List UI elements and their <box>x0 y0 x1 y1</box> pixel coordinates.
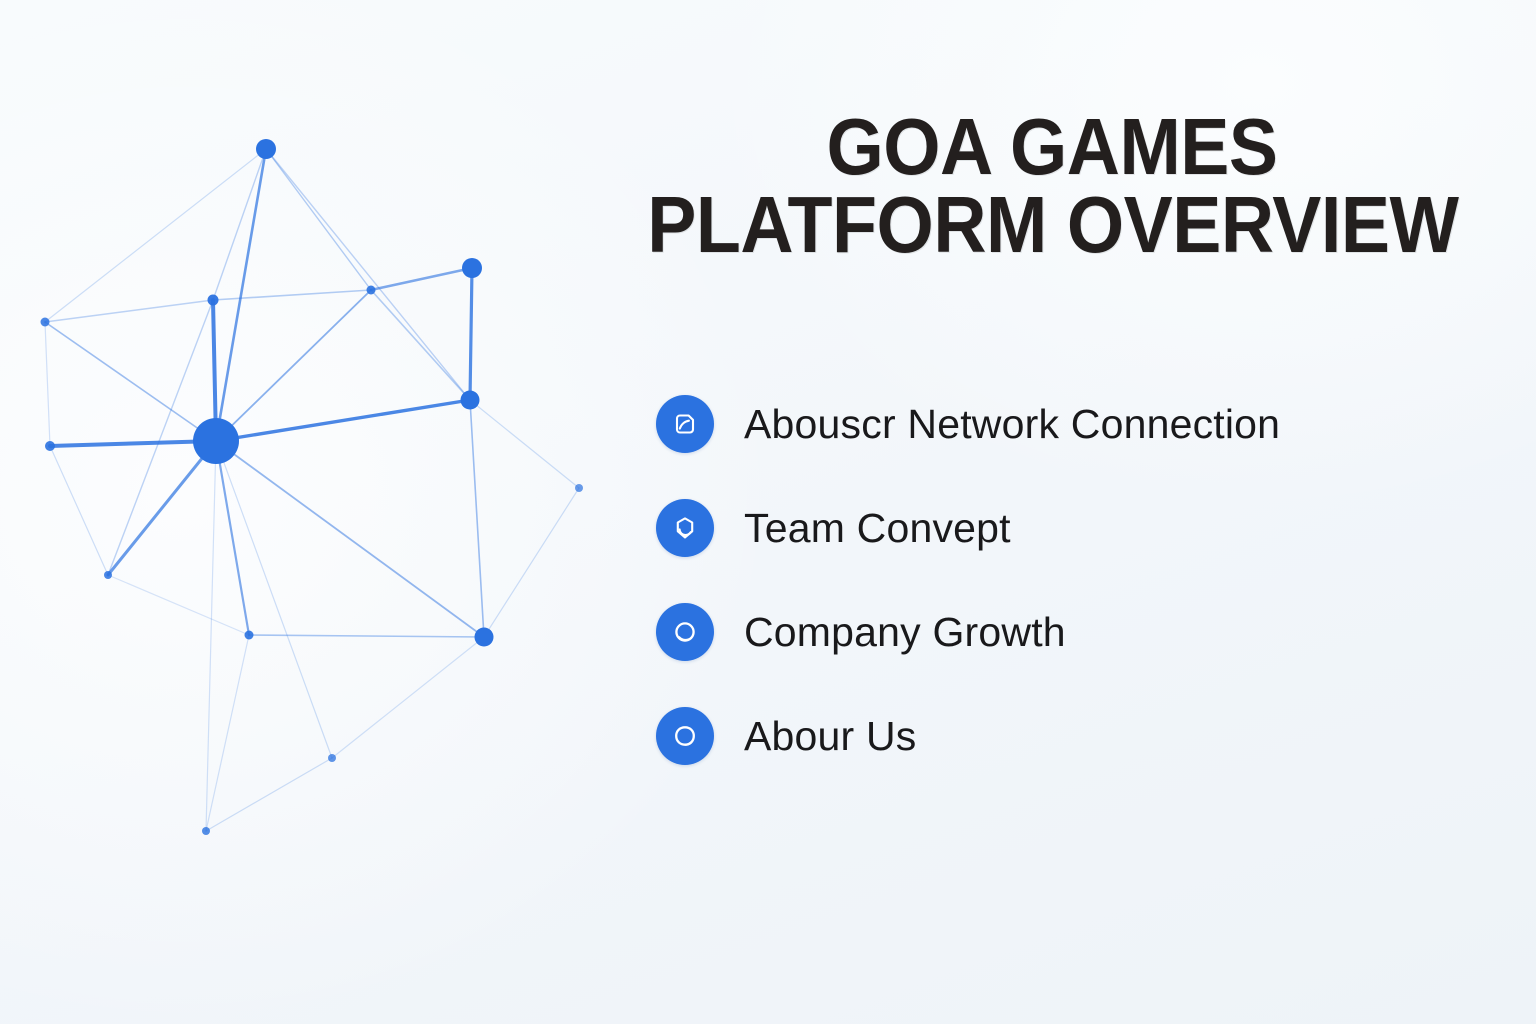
network-node <box>575 484 583 492</box>
title-line-2: PLATFORM OVERVIEW <box>647 186 1457 264</box>
network-edge <box>206 758 332 831</box>
squircle-icon <box>656 707 714 765</box>
network-edge <box>371 290 470 400</box>
network-node <box>461 391 480 410</box>
list-item-label: Team Convept <box>744 505 1011 552</box>
network-node <box>193 418 239 464</box>
network-edges <box>45 149 579 831</box>
page-title: GOA GAMES PLATFORM OVERVIEW <box>612 108 1492 263</box>
list-item[interactable]: Abouscr Network Connection <box>656 372 1526 476</box>
network-edge <box>206 635 249 831</box>
network-edge <box>266 149 371 290</box>
list-item[interactable]: Team Convept <box>656 476 1526 580</box>
circle-ring-icon <box>656 603 714 661</box>
network-edge <box>206 441 216 831</box>
network-nodes <box>41 139 584 835</box>
network-edge <box>213 149 266 300</box>
list-item[interactable]: Company Growth <box>656 580 1526 684</box>
overview-list: Abouscr Network Connection Team Convept <box>656 372 1526 788</box>
list-item-label: Company Growth <box>744 609 1066 656</box>
network-node <box>328 754 336 762</box>
list-item-label: Abour Us <box>744 713 917 760</box>
network-node <box>245 631 254 640</box>
network-edge <box>371 268 472 290</box>
network-node <box>45 441 55 451</box>
network-node <box>208 295 219 306</box>
network-node-graphic <box>0 0 640 1024</box>
document-icon <box>656 395 714 453</box>
list-item[interactable]: Abour Us <box>656 684 1526 788</box>
network-node <box>462 258 482 278</box>
network-node <box>41 318 50 327</box>
content-column: GOA GAMES PLATFORM OVERVIEW Abouscr Netw… <box>612 0 1536 1024</box>
network-edge <box>50 441 216 446</box>
network-edge <box>249 635 484 637</box>
network-node <box>475 628 494 647</box>
network-edge <box>45 322 50 446</box>
shield-hexagon-icon <box>656 499 714 557</box>
network-edge <box>216 400 470 441</box>
list-item-label: Abouscr Network Connection <box>744 401 1280 448</box>
network-edge <box>470 268 472 400</box>
network-edge <box>470 400 484 637</box>
network-edge <box>216 441 332 758</box>
network-edge <box>216 441 484 637</box>
network-node <box>367 286 376 295</box>
network-node <box>202 827 210 835</box>
network-edge <box>213 290 371 300</box>
network-node <box>256 139 276 159</box>
network-edge <box>45 322 216 441</box>
network-edge <box>332 637 484 758</box>
network-node <box>104 571 112 579</box>
network-edge <box>484 488 579 637</box>
network-edge <box>216 149 266 441</box>
slide-canvas: GOA GAMES PLATFORM OVERVIEW Abouscr Netw… <box>0 0 1536 1024</box>
network-edge <box>216 441 249 635</box>
title-line-1: GOA GAMES <box>647 108 1457 186</box>
network-edge <box>108 441 216 575</box>
network-edge <box>45 300 213 322</box>
network-edge <box>108 575 249 635</box>
network-edge <box>470 400 579 488</box>
network-edge <box>45 149 266 322</box>
network-edge <box>50 446 108 575</box>
